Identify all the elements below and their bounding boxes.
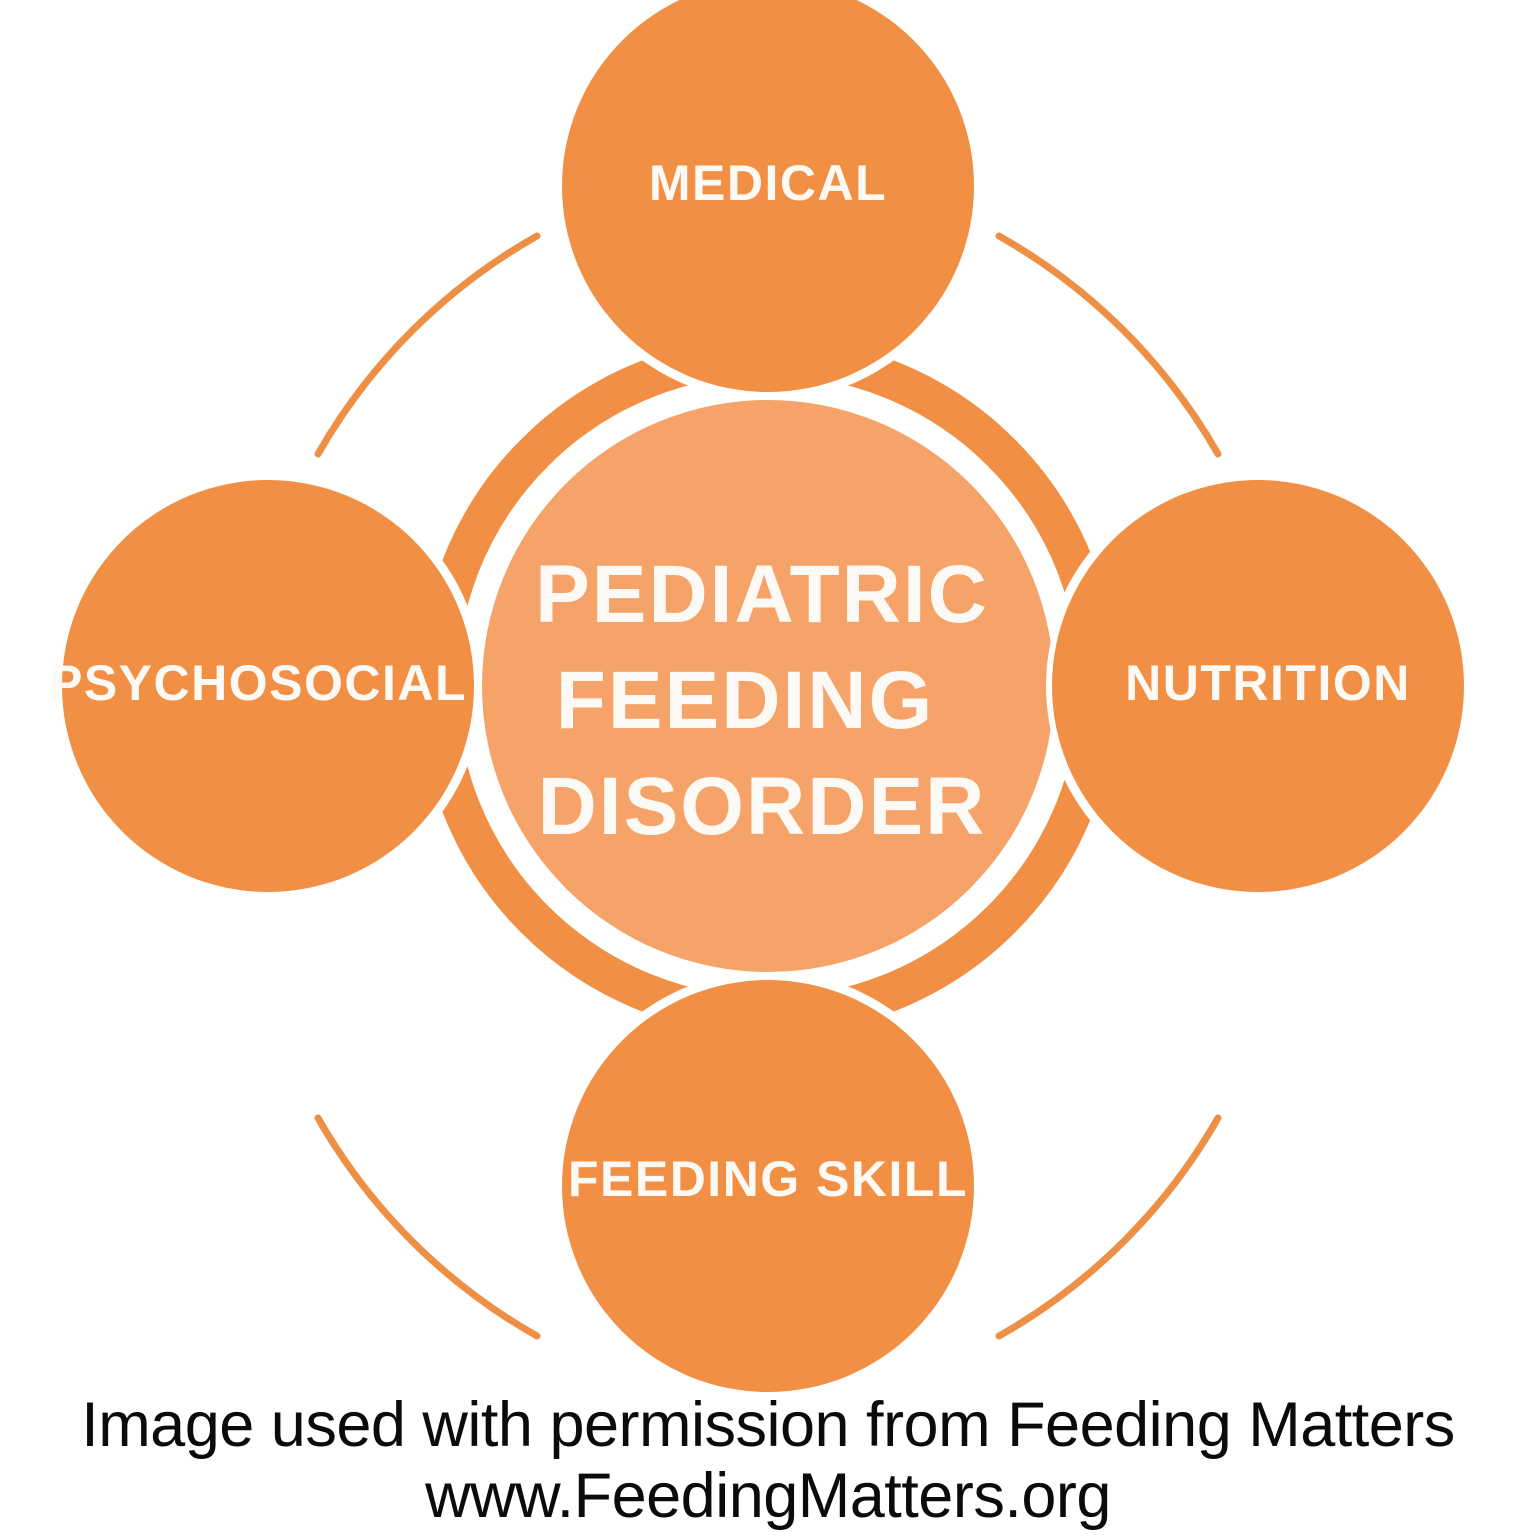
caption-website-line: www.FeedingMatters.org bbox=[0, 1461, 1536, 1532]
domain-label-medical: MEDICAL bbox=[649, 155, 887, 211]
outer-arc-top-right bbox=[999, 236, 1218, 454]
center-label-line-3: DISORDER bbox=[538, 761, 987, 852]
domain-label-nutrition: NUTRITION bbox=[1125, 655, 1411, 711]
caption-permission-line: Image used with permission from Feeding … bbox=[0, 1390, 1536, 1461]
center-label-line-2: FEEDING bbox=[556, 655, 934, 746]
attribution-caption: Image used with permission from Feeding … bbox=[0, 1390, 1536, 1531]
outer-arc-bottom-right bbox=[999, 1118, 1218, 1336]
domain-label-psychosocial: PSYCHOSOCIAL bbox=[49, 655, 467, 711]
outer-arc-bottom-left bbox=[318, 1118, 537, 1336]
diagram-canvas: MEDICAL NUTRITION FEEDING SKILL PSYCHOSO… bbox=[0, 0, 1536, 1536]
domain-label-feeding-skill: FEEDING SKILL bbox=[568, 1151, 968, 1207]
pediatric-feeding-disorder-diagram: MEDICAL NUTRITION FEEDING SKILL PSYCHOSO… bbox=[0, 0, 1536, 1536]
outer-arc-top-left bbox=[318, 236, 537, 454]
center-label-line-1: PEDIATRIC bbox=[535, 549, 989, 640]
